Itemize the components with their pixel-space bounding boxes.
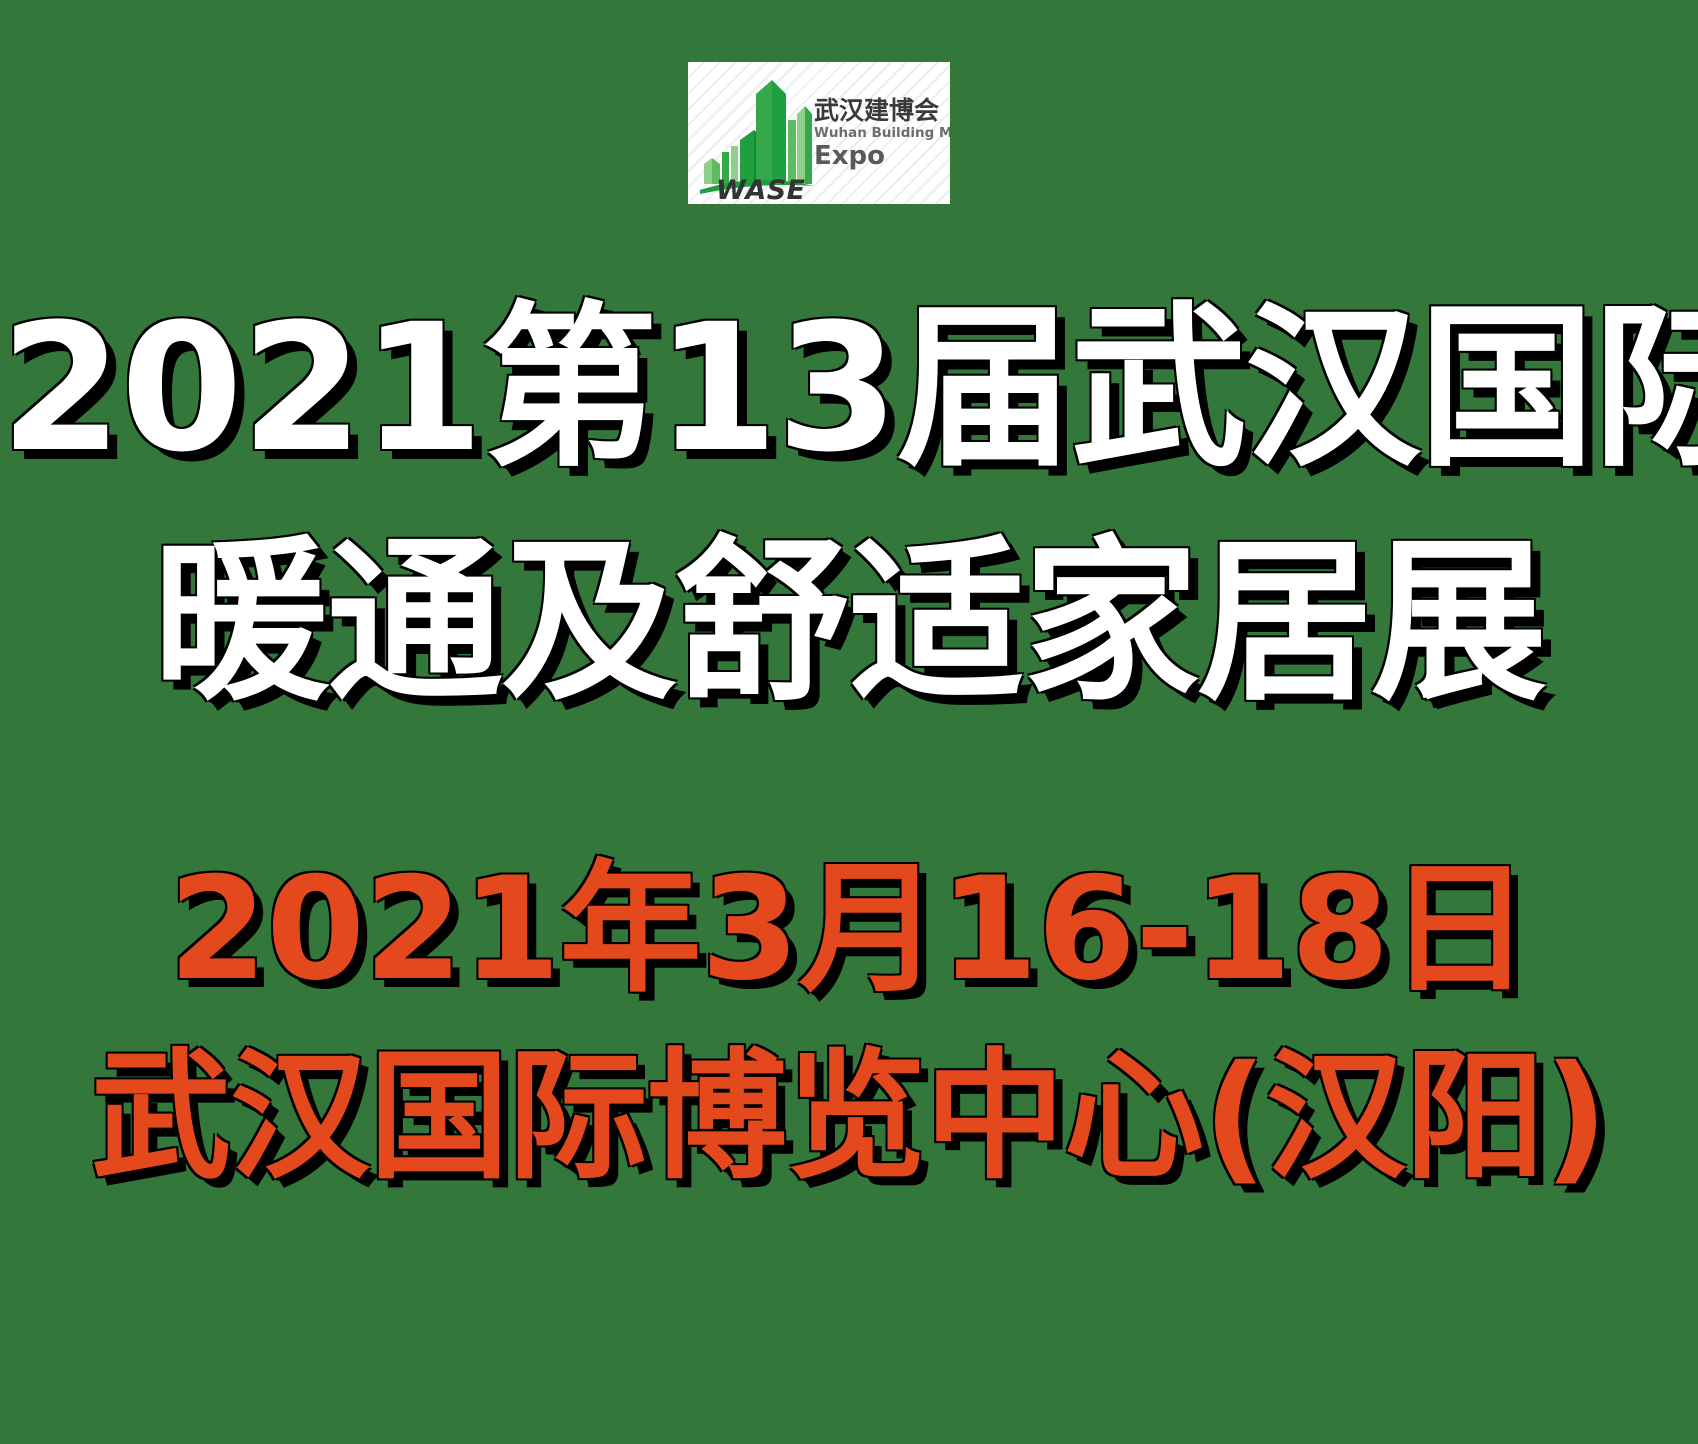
- poster-details: 2021年3月16-18日 武汉国际博览中心(汉阳): [0, 836, 1698, 1211]
- event-logo: WASE 武汉建博会 Wuhan Building Material Expo: [688, 62, 950, 204]
- logo-name-en-line1: Wuhan Building Material: [814, 125, 946, 142]
- logo-text-block: 武汉建博会 Wuhan Building Material Expo: [814, 98, 946, 170]
- event-date: 2021年3月16-18日: [0, 836, 1698, 1025]
- headline-line-2: 暖通及舒适家居展: [0, 506, 1698, 740]
- event-venue: 武汉国际博览中心(汉阳): [0, 1025, 1698, 1211]
- exhibition-poster: WASE 武汉建博会 Wuhan Building Material Expo …: [0, 0, 1698, 1444]
- wase-building-skyline-icon: WASE: [698, 68, 816, 200]
- svg-text:WASE: WASE: [716, 175, 806, 200]
- poster-headline: 2021第13届武汉国际 暖通及舒适家居展: [0, 272, 1698, 740]
- logo-name-cn: 武汉建博会: [814, 98, 946, 124]
- logo-name-en-line2: Expo: [814, 143, 946, 170]
- headline-line-1: 2021第13届武汉国际: [0, 272, 1698, 506]
